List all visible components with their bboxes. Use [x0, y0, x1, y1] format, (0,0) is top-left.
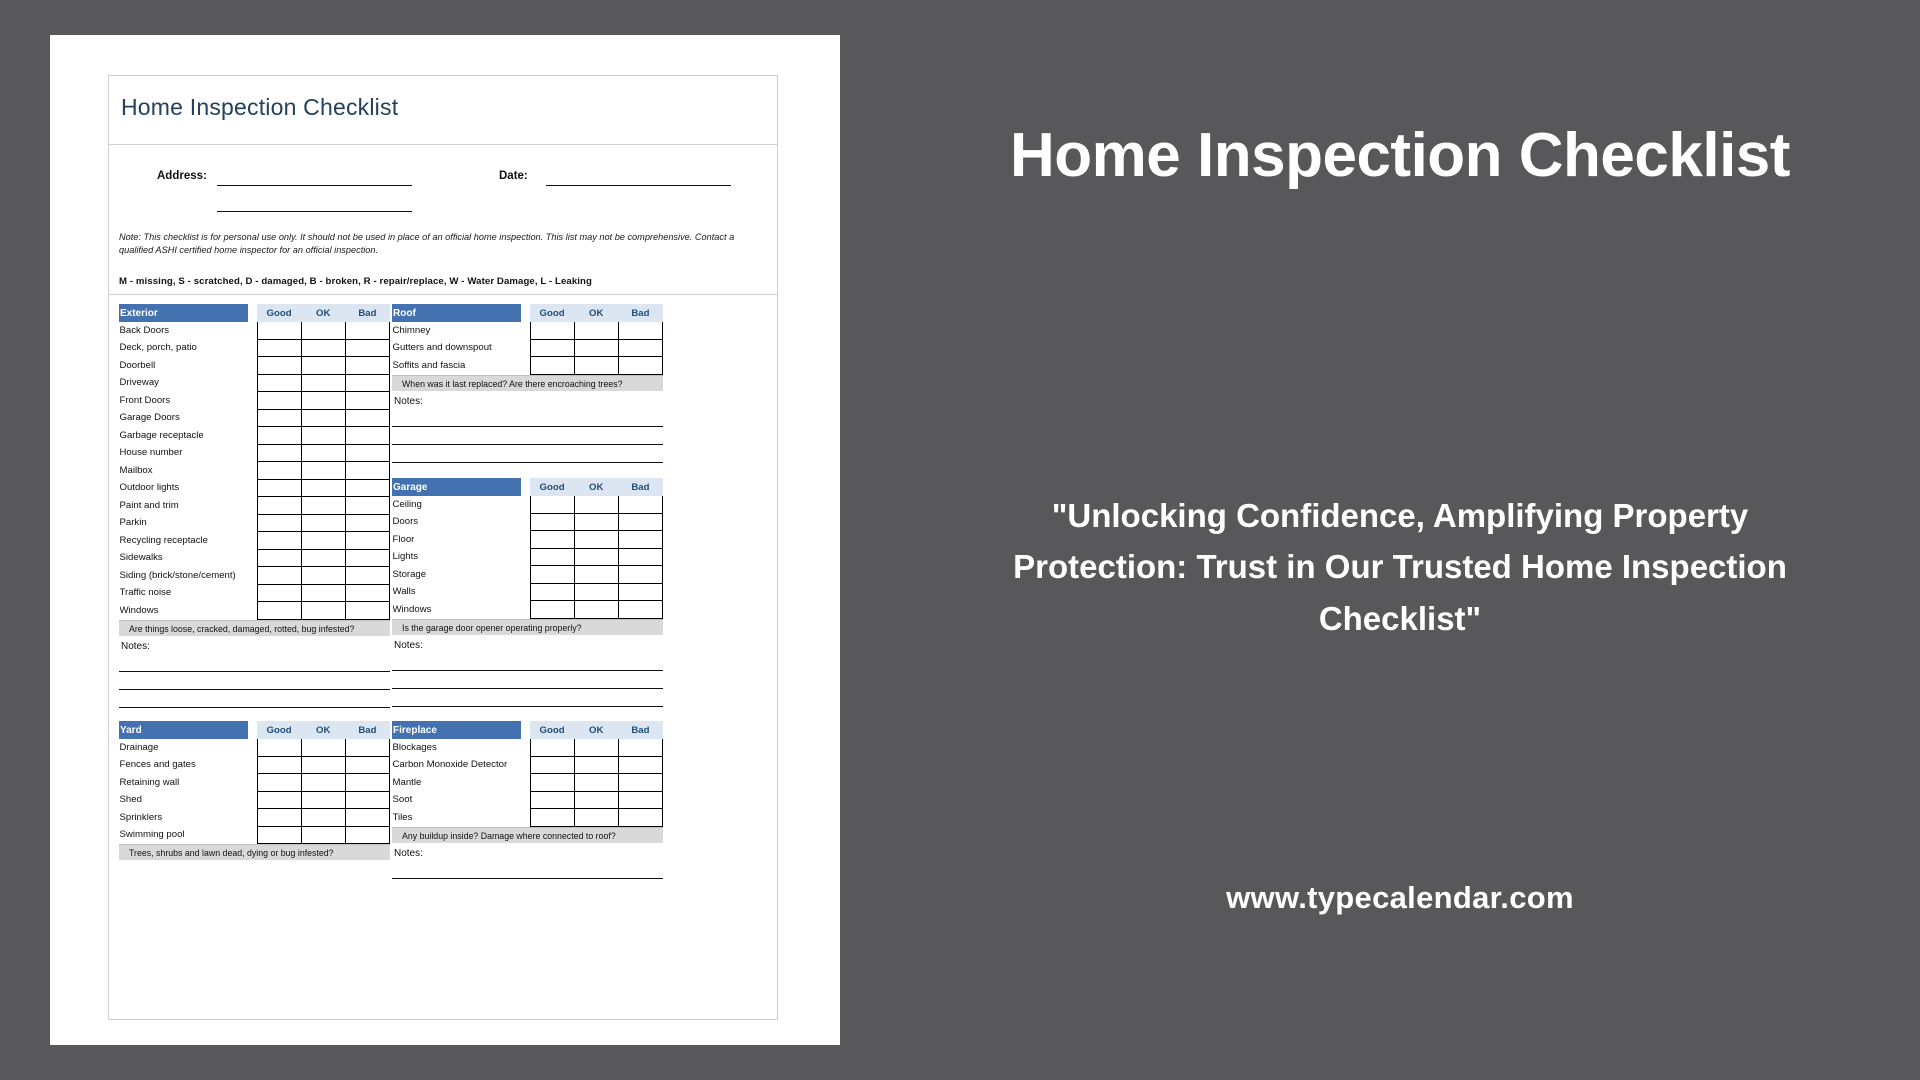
row-spacer [521, 548, 530, 566]
row-spacer [248, 462, 257, 480]
rating-cell-ok[interactable] [574, 357, 618, 375]
table-row: Soffits and fascia [393, 357, 663, 375]
rating-cell-bad[interactable] [345, 809, 389, 827]
rating-cell-ok[interactable] [574, 566, 618, 584]
item-label: Siding (brick/stone/cement) [120, 567, 248, 585]
row-spacer [248, 322, 257, 340]
rating-cell-ok[interactable] [574, 809, 618, 827]
date-line[interactable] [546, 185, 731, 186]
rating-cell-good[interactable] [530, 322, 574, 340]
row-spacer [521, 809, 530, 827]
table-row: Paint and trim [120, 497, 390, 515]
rating-cell-good[interactable] [530, 774, 574, 792]
rating-cell-good[interactable] [257, 497, 301, 515]
rating-cell-bad[interactable] [618, 566, 662, 584]
rating-cell-ok[interactable] [301, 374, 345, 392]
table-row: Gutters and downspout [393, 339, 663, 357]
rating-cell-good[interactable] [530, 756, 574, 774]
rating-cell-bad[interactable] [345, 462, 389, 480]
header-spacer [248, 305, 257, 322]
table-row: Siding (brick/stone/cement) [120, 567, 390, 585]
rating-cell-bad[interactable] [345, 532, 389, 550]
item-label: Walls [393, 583, 521, 601]
rating-cell-ok[interactable] [301, 809, 345, 827]
rating-cell-good[interactable] [530, 601, 574, 619]
rating-cell-good[interactable] [257, 602, 301, 620]
row-spacer [248, 514, 257, 532]
checklist-table-exterior: ExteriorGoodOKBadBack DoorsDeck, porch, … [119, 304, 390, 620]
legend-divider [109, 294, 777, 295]
item-label: Front Doors [120, 392, 248, 410]
row-spacer [521, 513, 530, 531]
rating-cell-good[interactable] [257, 739, 301, 757]
row-spacer [521, 339, 530, 357]
table-row: Garbage receptacle [120, 427, 390, 445]
item-label: Driveway [120, 374, 248, 392]
rating-cell-bad[interactable] [345, 444, 389, 462]
rating-cell-good[interactable] [530, 531, 574, 549]
row-spacer [248, 567, 257, 585]
rating-header-bad: Bad [345, 305, 389, 322]
row-spacer [521, 496, 530, 514]
notes-label-roof: Notes: [392, 391, 663, 409]
rating-cell-ok[interactable] [574, 739, 618, 757]
item-label: Lights [393, 548, 521, 566]
rating-cell-bad[interactable] [618, 548, 662, 566]
row-spacer [521, 322, 530, 340]
rating-header-ok: OK [301, 305, 345, 322]
rating-cell-bad[interactable] [345, 322, 389, 340]
notes-lines-garage [392, 653, 663, 707]
rating-cell-ok[interactable] [574, 756, 618, 774]
row-spacer [248, 374, 257, 392]
rating-cell-ok[interactable] [574, 496, 618, 514]
table-row: Traffic noise [120, 584, 390, 602]
rating-cell-bad[interactable] [618, 791, 662, 809]
row-spacer [248, 549, 257, 567]
rating-cell-bad[interactable] [618, 739, 662, 757]
rating-cell-good[interactable] [257, 357, 301, 375]
section-yard: YardGoodOKBadDrainageFences and gatesRet… [119, 721, 390, 860]
item-label: Retaining wall [120, 774, 248, 792]
rating-header-ok: OK [301, 722, 345, 739]
checklist-document: Home Inspection Checklist Address: Date:… [108, 75, 778, 1020]
rating-cell-ok[interactable] [574, 583, 618, 601]
item-label: Shed [120, 791, 248, 809]
row-spacer [521, 357, 530, 375]
title-divider [109, 144, 777, 145]
rating-cell-ok[interactable] [301, 339, 345, 357]
rating-cell-good[interactable] [530, 583, 574, 601]
section-question-yard: Trees, shrubs and lawn dead, dying or bu… [119, 844, 390, 860]
rating-cell-bad[interactable] [345, 409, 389, 427]
rating-cell-ok[interactable] [301, 739, 345, 757]
notes-line[interactable] [392, 445, 663, 463]
item-label: Doorbell [120, 357, 248, 375]
rating-cell-ok[interactable] [301, 756, 345, 774]
rating-header-good: Good [530, 305, 574, 322]
item-label: House number [120, 444, 248, 462]
rating-cell-good[interactable] [257, 374, 301, 392]
rating-cell-good[interactable] [257, 809, 301, 827]
table-row: Swimming pool [120, 826, 390, 844]
rating-cell-good[interactable] [530, 548, 574, 566]
table-row: Windows [120, 602, 390, 620]
table-row: Mailbox [120, 462, 390, 480]
rating-cell-ok[interactable] [301, 392, 345, 410]
rating-cell-bad[interactable] [618, 339, 662, 357]
rating-cell-ok[interactable] [574, 322, 618, 340]
rating-cell-good[interactable] [530, 739, 574, 757]
rating-cell-bad[interactable] [618, 357, 662, 375]
rating-cell-good[interactable] [530, 809, 574, 827]
rating-cell-ok[interactable] [574, 601, 618, 619]
table-row: Blockages [393, 739, 663, 757]
rating-cell-ok[interactable] [301, 514, 345, 532]
rating-cell-bad[interactable] [345, 514, 389, 532]
rating-cell-good[interactable] [530, 357, 574, 375]
screenshot-root: Home Inspection Checklist Address: Date:… [0, 0, 1920, 1080]
row-spacer [248, 602, 257, 620]
rating-cell-ok[interactable] [574, 548, 618, 566]
notes-line[interactable] [392, 427, 663, 445]
row-spacer [248, 774, 257, 792]
promo-website: www.typecalendar.com [880, 880, 1920, 916]
item-label: Doors [393, 513, 521, 531]
notes-label-fireplace: Notes: [392, 843, 663, 861]
rating-cell-good[interactable] [257, 339, 301, 357]
item-label: Parkin [120, 514, 248, 532]
rating-cell-ok[interactable] [301, 549, 345, 567]
rating-header-ok: OK [574, 722, 618, 739]
rating-header-bad: Bad [345, 722, 389, 739]
rating-cell-good[interactable] [257, 826, 301, 844]
notes-line[interactable] [392, 861, 663, 879]
section-question-fireplace: Any buildup inside? Damage where connect… [392, 827, 663, 843]
table-row: Floor [393, 531, 663, 549]
section-exterior: ExteriorGoodOKBadBack DoorsDeck, porch, … [119, 304, 390, 708]
rating-cell-good[interactable] [257, 392, 301, 410]
row-spacer [248, 392, 257, 410]
row-spacer [248, 756, 257, 774]
rating-cell-ok[interactable] [301, 584, 345, 602]
promo-panel: Home Inspection Checklist "Unlocking Con… [880, 0, 1920, 1080]
table-row: Windows [393, 601, 663, 619]
notes-line[interactable] [392, 689, 663, 707]
address-date-row: Address: Date: [109, 170, 777, 192]
rating-cell-bad[interactable] [345, 549, 389, 567]
notes-line[interactable] [392, 671, 663, 689]
section-fireplace: FireplaceGoodOKBadBlockagesCarbon Monoxi… [392, 721, 663, 879]
rating-cell-bad[interactable] [345, 739, 389, 757]
table-row: Shed [120, 791, 390, 809]
table-row: Drainage [120, 739, 390, 757]
table-row: Mantle [393, 774, 663, 792]
item-label: Garage Doors [120, 409, 248, 427]
item-label: Carbon Monoxide Detector [393, 756, 521, 774]
item-label: Gutters and downspout [393, 339, 521, 357]
table-row: Storage [393, 566, 663, 584]
rating-cell-ok[interactable] [301, 444, 345, 462]
rating-cell-bad[interactable] [618, 322, 662, 340]
rating-cell-ok[interactable] [301, 791, 345, 809]
rating-cell-bad[interactable] [618, 513, 662, 531]
item-label: Paint and trim [120, 497, 248, 515]
rating-cell-bad[interactable] [345, 392, 389, 410]
rating-cell-good[interactable] [257, 514, 301, 532]
rating-cell-good[interactable] [257, 584, 301, 602]
rating-cell-good[interactable] [257, 791, 301, 809]
rating-cell-ok[interactable] [301, 602, 345, 620]
item-label: Mailbox [120, 462, 248, 480]
table-row: House number [120, 444, 390, 462]
table-row: Outdoor lights [120, 479, 390, 497]
row-spacer [521, 791, 530, 809]
row-spacer [248, 357, 257, 375]
item-label: Blockages [393, 739, 521, 757]
rating-cell-ok[interactable] [301, 479, 345, 497]
rating-header-good: Good [257, 722, 301, 739]
row-spacer [248, 532, 257, 550]
rating-cell-good[interactable] [257, 567, 301, 585]
checklist-table-roof: RoofGoodOKBadChimneyGutters and downspou… [392, 304, 663, 375]
rating-cell-bad[interactable] [618, 756, 662, 774]
table-row: Deck, porch, patio [120, 339, 390, 357]
row-spacer [248, 409, 257, 427]
rating-cell-ok[interactable] [301, 774, 345, 792]
table-row: Front Doors [120, 392, 390, 410]
rating-cell-good[interactable] [257, 322, 301, 340]
rating-cell-bad[interactable] [618, 583, 662, 601]
rating-cell-bad[interactable] [345, 774, 389, 792]
rating-cell-ok[interactable] [574, 774, 618, 792]
row-spacer [248, 739, 257, 757]
checklist-table-fireplace: FireplaceGoodOKBadBlockagesCarbon Monoxi… [392, 721, 663, 827]
address-line-2[interactable] [217, 211, 412, 212]
rating-cell-bad[interactable] [618, 774, 662, 792]
section-question-garage: Is the garage door opener operating prop… [392, 619, 663, 635]
header-spacer [521, 305, 530, 322]
table-row: Ceiling [393, 496, 663, 514]
section-roof: RoofGoodOKBadChimneyGutters and downspou… [392, 304, 663, 463]
row-spacer [248, 339, 257, 357]
rating-cell-bad[interactable] [345, 826, 389, 844]
row-spacer [248, 809, 257, 827]
item-label: Soot [393, 791, 521, 809]
address-line-1[interactable] [217, 185, 412, 186]
rating-cell-ok[interactable] [301, 497, 345, 515]
rating-cell-ok[interactable] [301, 409, 345, 427]
item-label: Outdoor lights [120, 479, 248, 497]
notes-line[interactable] [119, 672, 390, 690]
rating-header-ok: OK [574, 479, 618, 496]
rating-cell-good[interactable] [530, 513, 574, 531]
rating-cell-bad[interactable] [345, 479, 389, 497]
rating-cell-bad[interactable] [345, 602, 389, 620]
rating-cell-good[interactable] [257, 444, 301, 462]
item-label: Recycling receptacle [120, 532, 248, 550]
section-title-roof: Roof [393, 305, 521, 322]
item-label: Windows [393, 601, 521, 619]
row-spacer [248, 791, 257, 809]
rating-cell-bad[interactable] [618, 531, 662, 549]
item-label: Windows [120, 602, 248, 620]
rating-header-good: Good [530, 479, 574, 496]
rating-cell-good[interactable] [257, 479, 301, 497]
rating-cell-ok[interactable] [301, 532, 345, 550]
table-header-row: GarageGoodOKBad [393, 479, 663, 496]
rating-header-bad: Bad [618, 722, 662, 739]
address-label: Address: [157, 170, 207, 182]
rating-cell-good[interactable] [257, 549, 301, 567]
notes-lines-roof [392, 409, 663, 463]
rating-cell-bad[interactable] [618, 809, 662, 827]
row-spacer [248, 444, 257, 462]
rating-cell-good[interactable] [257, 774, 301, 792]
item-label: Tiles [393, 809, 521, 827]
rating-cell-bad[interactable] [345, 584, 389, 602]
rating-cell-bad[interactable] [345, 791, 389, 809]
table-row: Walls [393, 583, 663, 601]
table-row: Sidewalks [120, 549, 390, 567]
date-label: Date: [499, 170, 528, 182]
rating-cell-good[interactable] [530, 566, 574, 584]
rating-cell-ok[interactable] [301, 826, 345, 844]
rating-cell-good[interactable] [257, 532, 301, 550]
rating-cell-ok[interactable] [301, 567, 345, 585]
section-title-garage: Garage [393, 479, 521, 496]
table-row: Chimney [393, 322, 663, 340]
section-title-exterior: Exterior [120, 305, 248, 322]
rating-header-bad: Bad [618, 305, 662, 322]
rating-cell-bad[interactable] [345, 567, 389, 585]
table-row: Lights [393, 548, 663, 566]
rating-cell-bad[interactable] [345, 497, 389, 515]
rating-cell-good[interactable] [257, 427, 301, 445]
checklist-table-garage: GarageGoodOKBadCeilingDoorsFloorLightsSt… [392, 478, 663, 619]
item-label: Garbage receptacle [120, 427, 248, 445]
rating-cell-ok[interactable] [574, 791, 618, 809]
promo-heading: Home Inspection Checklist [880, 120, 1920, 191]
rating-cell-bad[interactable] [345, 374, 389, 392]
rating-cell-bad[interactable] [618, 496, 662, 514]
document-title: Home Inspection Checklist [121, 94, 398, 121]
rating-cell-good[interactable] [257, 409, 301, 427]
item-label: Sprinklers [120, 809, 248, 827]
item-label: Drainage [120, 739, 248, 757]
header-spacer [248, 722, 257, 739]
table-row: Parkin [120, 514, 390, 532]
row-spacer [521, 739, 530, 757]
item-label: Deck, porch, patio [120, 339, 248, 357]
rating-cell-bad[interactable] [345, 357, 389, 375]
notes-label-exterior: Notes: [119, 636, 390, 654]
rating-cell-ok[interactable] [574, 531, 618, 549]
row-spacer [521, 601, 530, 619]
item-label: Soffits and fascia [393, 357, 521, 375]
section-title-fireplace: Fireplace [393, 722, 521, 739]
rating-cell-ok[interactable] [574, 339, 618, 357]
rating-cell-good[interactable] [257, 756, 301, 774]
table-row: Driveway [120, 374, 390, 392]
row-spacer [521, 566, 530, 584]
rating-cell-bad[interactable] [345, 427, 389, 445]
row-spacer [248, 427, 257, 445]
rating-cell-good[interactable] [530, 791, 574, 809]
table-row: Soot [393, 791, 663, 809]
rating-cell-ok[interactable] [574, 513, 618, 531]
item-label: Traffic noise [120, 584, 248, 602]
section-question-roof: When was it last replaced? Are there enc… [392, 375, 663, 391]
rating-cell-bad[interactable] [345, 756, 389, 774]
rating-cell-good[interactable] [257, 462, 301, 480]
row-spacer [248, 584, 257, 602]
notes-lines-fireplace [392, 861, 663, 879]
rating-cell-good[interactable] [530, 339, 574, 357]
rating-header-good: Good [530, 722, 574, 739]
item-label: Fences and gates [120, 756, 248, 774]
rating-cell-bad[interactable] [345, 339, 389, 357]
item-label: Sidewalks [120, 549, 248, 567]
rating-cell-ok[interactable] [301, 357, 345, 375]
checklist-table-yard: YardGoodOKBadDrainageFences and gatesRet… [119, 721, 390, 844]
table-header-row: FireplaceGoodOKBad [393, 722, 663, 739]
item-label: Chimney [393, 322, 521, 340]
header-spacer [521, 479, 530, 496]
row-spacer [248, 497, 257, 515]
table-header-row: RoofGoodOKBad [393, 305, 663, 322]
row-spacer [521, 583, 530, 601]
promo-quote: "Unlocking Confidence, Amplifying Proper… [985, 490, 1815, 644]
table-row: Back Doors [120, 322, 390, 340]
row-spacer [521, 531, 530, 549]
abbreviation-legend: M - missing, S - scratched, D - damaged,… [119, 276, 767, 287]
header-spacer [521, 722, 530, 739]
section-question-exterior: Are things loose, cracked, damaged, rott… [119, 620, 390, 636]
notes-line[interactable] [119, 654, 390, 672]
table-row: Recycling receptacle [120, 532, 390, 550]
rating-cell-ok[interactable] [301, 462, 345, 480]
notes-line[interactable] [392, 409, 663, 427]
section-garage: GarageGoodOKBadCeilingDoorsFloorLightsSt… [392, 478, 663, 707]
row-spacer [521, 774, 530, 792]
table-row: Retaining wall [120, 774, 390, 792]
row-spacer [248, 479, 257, 497]
section-title-yard: Yard [120, 722, 248, 739]
rating-cell-ok[interactable] [301, 427, 345, 445]
item-label: Back Doors [120, 322, 248, 340]
rating-header-bad: Bad [618, 479, 662, 496]
table-row: Garage Doors [120, 409, 390, 427]
notes-line[interactable] [119, 690, 390, 708]
table-row: Sprinklers [120, 809, 390, 827]
rating-header-good: Good [257, 305, 301, 322]
table-header-row: YardGoodOKBad [120, 722, 390, 739]
table-row: Doorbell [120, 357, 390, 375]
item-label: Floor [393, 531, 521, 549]
table-row: Carbon Monoxide Detector [393, 756, 663, 774]
rating-cell-bad[interactable] [618, 601, 662, 619]
row-spacer [248, 826, 257, 844]
rating-header-ok: OK [574, 305, 618, 322]
table-header-row: ExteriorGoodOKBad [120, 305, 390, 322]
rating-cell-ok[interactable] [301, 322, 345, 340]
notes-lines-exterior [119, 654, 390, 708]
notes-line[interactable] [392, 653, 663, 671]
paper-backdrop: Home Inspection Checklist Address: Date:… [50, 35, 840, 1045]
table-row: Doors [393, 513, 663, 531]
rating-cell-good[interactable] [530, 496, 574, 514]
